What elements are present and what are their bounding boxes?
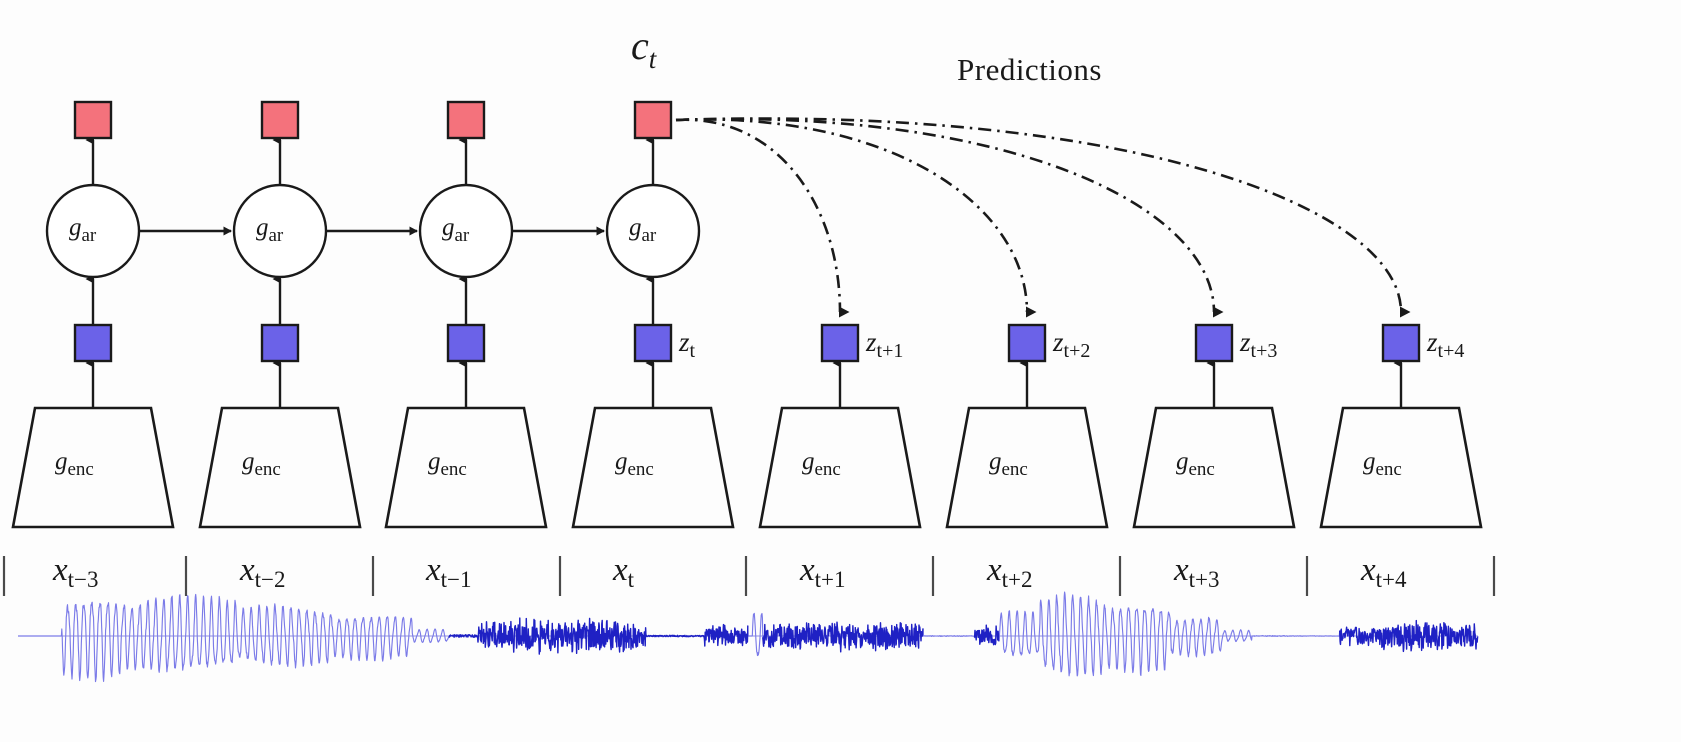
encoder-label-t-1: genc (428, 448, 467, 476)
input-label-t+4: xt+4 (1361, 552, 1407, 589)
ar-label-t: gar (629, 214, 656, 242)
encoder-label-t-3: genc (55, 448, 94, 476)
ar-label-t-3: gar (69, 214, 96, 242)
input-label-t-2: xt−2 (240, 552, 286, 589)
diagram-svg (0, 0, 1681, 742)
input-label-t+3: xt+3 (1174, 552, 1220, 589)
encoder-label-t+1: genc (802, 448, 841, 476)
encoder-label-t+4: genc (1363, 448, 1402, 476)
input-label-t-3: xt−3 (53, 552, 99, 589)
input-label-t+1: xt+1 (800, 552, 846, 589)
encoder-label-t: genc (615, 448, 654, 476)
predictions-label: Predictions (957, 52, 1102, 88)
encoder-label-t+3: genc (1176, 448, 1215, 476)
prediction-arrows-layer (676, 119, 1401, 312)
encoder-label-t-2: genc (242, 448, 281, 476)
context-vector-label: ct (631, 22, 656, 69)
input-label-t-1: xt−1 (426, 552, 472, 589)
latent-label-t+2: zt+2 (1053, 327, 1090, 358)
input-label-t+2: xt+2 (987, 552, 1033, 589)
latent-label-t+4: zt+4 (1427, 327, 1464, 358)
waveform-layer (18, 592, 1478, 682)
encoder-label-t+2: genc (989, 448, 1028, 476)
latent-label-t: zt (679, 327, 695, 358)
latent-label-t+1: zt+1 (866, 327, 903, 358)
latent-label-t+3: zt+3 (1240, 327, 1277, 358)
ar-label-t-1: gar (442, 214, 469, 242)
input-label-t: xt (613, 552, 634, 589)
ar-label-t-2: gar (256, 214, 283, 242)
figure-canvas: ct Predictions gencgarxt−3gencgarxt−2gen… (0, 0, 1681, 742)
